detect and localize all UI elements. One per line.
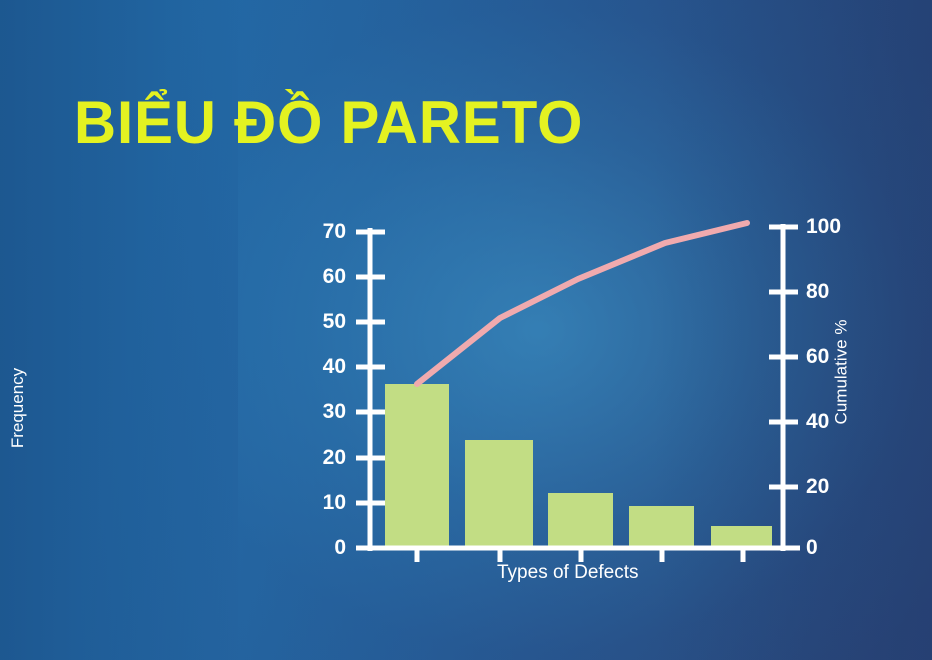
- ytick-left-50: 50: [300, 310, 346, 334]
- ytick-left-70: 70: [300, 220, 346, 244]
- x-axis-label: Types of Defects: [497, 562, 639, 584]
- bar-3: [548, 493, 613, 548]
- ytick-left-30: 30: [300, 400, 346, 424]
- ytick-left-0: 0: [300, 536, 346, 560]
- chart-svg: [0, 0, 932, 660]
- bar-4: [629, 506, 694, 548]
- ytick-left-10: 10: [300, 491, 346, 515]
- ytick-left-40: 40: [300, 355, 346, 379]
- ytick-left-60: 60: [300, 265, 346, 289]
- right-axis: [769, 224, 798, 551]
- ytick-right-80: 80: [806, 280, 856, 304]
- ytick-right-0: 0: [806, 536, 856, 560]
- y-axis-right-label: Cumulative %: [831, 320, 851, 425]
- bars-group: [385, 384, 772, 548]
- bar-5: [711, 526, 772, 548]
- bar-1: [385, 384, 449, 548]
- ytick-right-100: 100: [806, 215, 856, 239]
- cumulative-line: [417, 223, 747, 384]
- ytick-right-20: 20: [806, 475, 856, 499]
- pareto-chart-slide: BIỂU ĐỒ PARETO: [0, 0, 932, 660]
- pareto-chart: 70 60 50 40 30 20 10 0 100 80 60 40 20 0…: [0, 0, 932, 660]
- bar-2: [465, 440, 533, 548]
- left-axis: [356, 228, 385, 551]
- ytick-left-20: 20: [300, 446, 346, 470]
- y-axis-left-label: Frequency: [8, 368, 28, 448]
